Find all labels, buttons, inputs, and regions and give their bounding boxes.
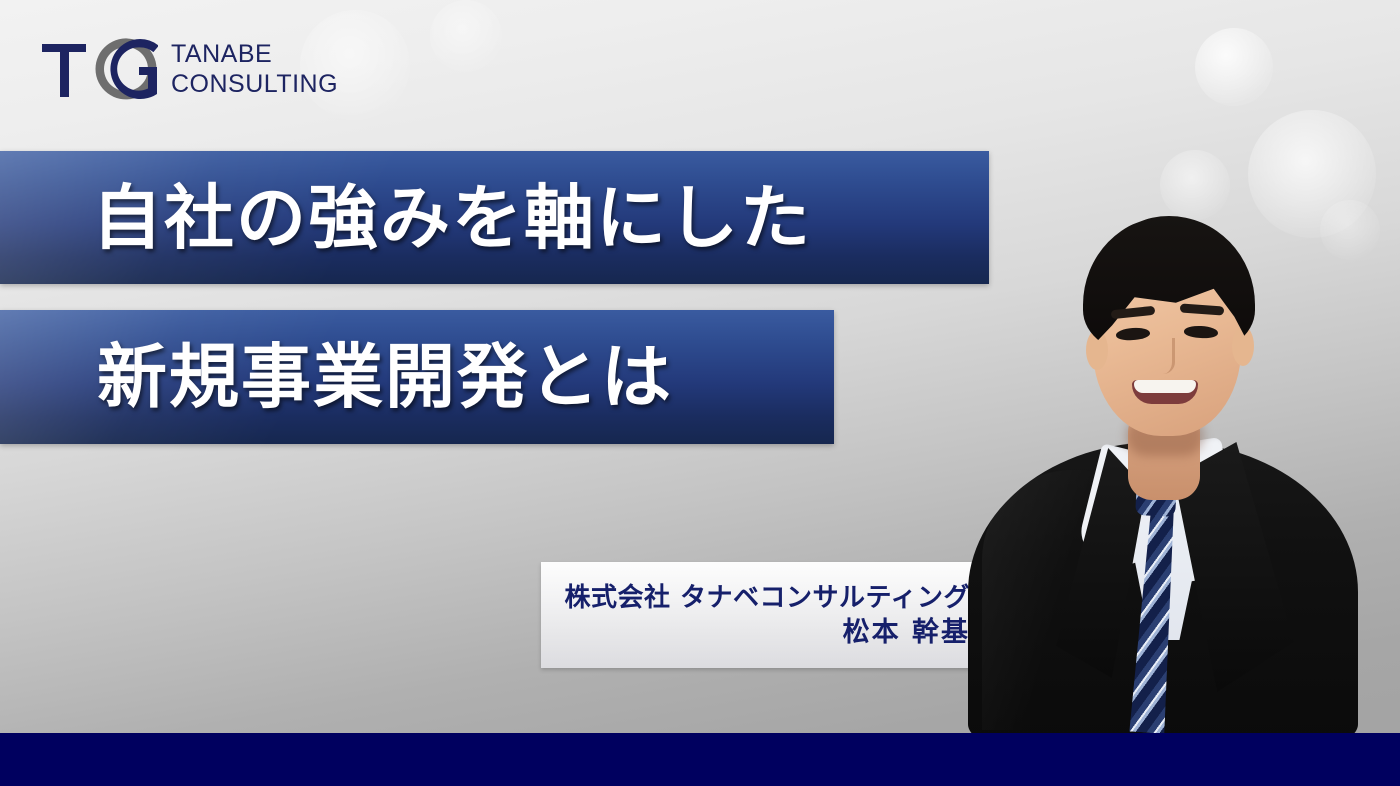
title-line1-text: 自社の強みを軸にした: [92, 183, 812, 253]
presenter-photo: [960, 180, 1360, 733]
tcg-monogram-icon: [40, 38, 158, 100]
logo-word-consulting: CONSULTING: [171, 72, 338, 97]
title-bar-line2: 新規事業開発とは: [0, 310, 834, 444]
slide-root: TANABE CONSULTING 自社の強みを軸にした 新規事業開発とは 株式…: [0, 0, 1400, 786]
bokeh-blob-icon: [430, 0, 502, 72]
title-bar-line1: 自社の強みを軸にした: [0, 151, 989, 284]
mouth: [1132, 380, 1198, 404]
tcg-wordmark: TANABE CONSULTING: [171, 42, 338, 97]
nose: [1155, 338, 1175, 374]
speaker-credit-box: 株式会社 タナベコンサルティング 松本 幹基: [541, 562, 1004, 668]
bokeh-blob-icon: [1195, 28, 1273, 106]
title-line2-text: 新規事業開発とは: [97, 342, 673, 412]
logo-word-tanabe: TANABE: [171, 42, 338, 67]
tcg-logo: TANABE CONSULTING: [40, 38, 338, 100]
teeth: [1134, 380, 1196, 393]
footer-band: [0, 733, 1400, 786]
speaker-person-name: 松本 幹基: [843, 618, 970, 648]
speaker-company-name: 株式会社 タナベコンサルティング: [565, 584, 971, 613]
